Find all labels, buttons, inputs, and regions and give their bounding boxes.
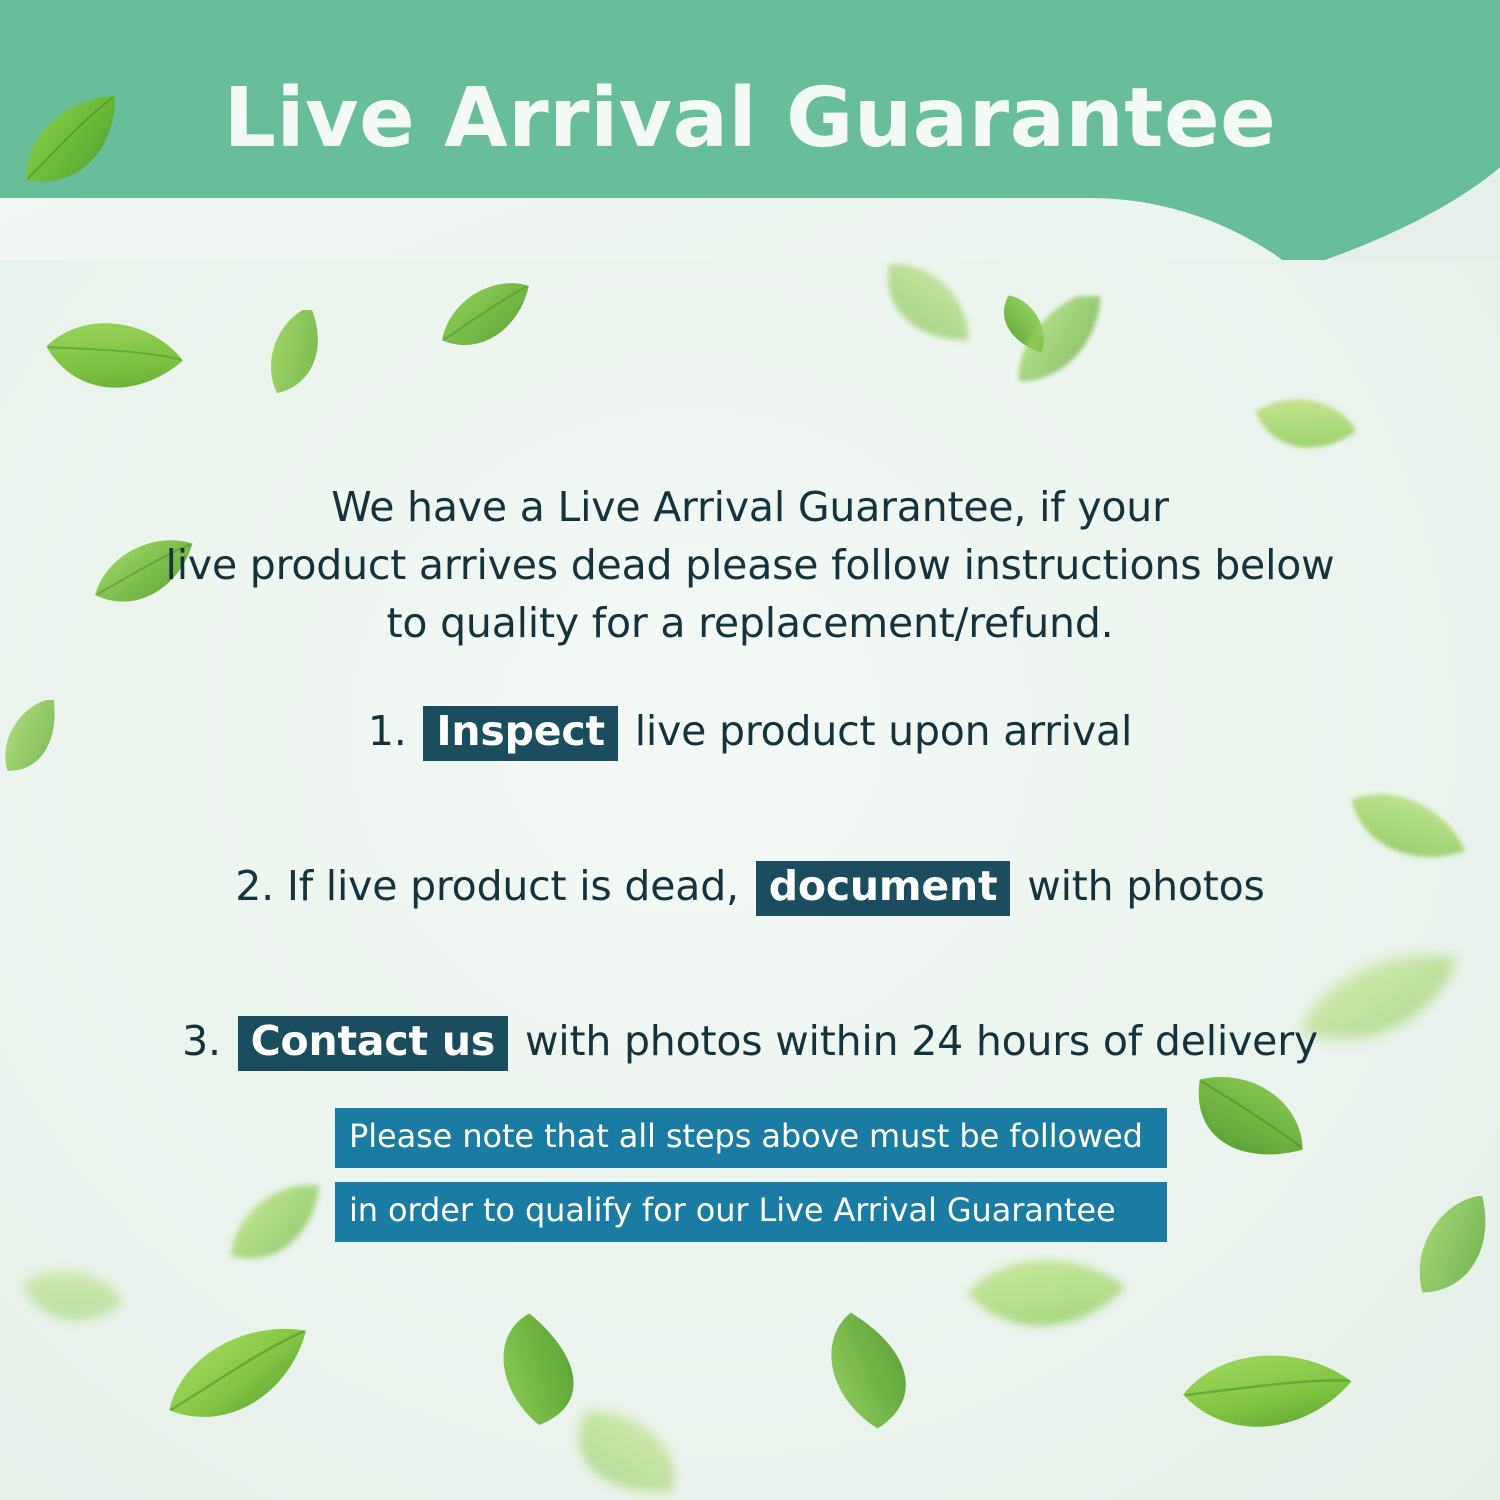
intro-line-3: to quality for a replacement/refund. — [150, 594, 1350, 652]
step-item-1: 1. Inspect live product upon arrival — [100, 706, 1400, 761]
step-number-3: 3. — [182, 1017, 221, 1065]
poster-content: Live Arrival Guarantee We have a Live Ar… — [0, 0, 1500, 1500]
live-arrival-guarantee-poster: Live Arrival Guarantee We have a Live Ar… — [0, 0, 1500, 1500]
step-item-2: 2. If live product is dead, document wit… — [100, 861, 1400, 916]
step-number-1: 1. — [368, 707, 407, 755]
step-text-2-after: with photos — [1027, 862, 1264, 910]
step-highlight-document[interactable]: document — [756, 861, 1011, 916]
step-highlight-inspect[interactable]: Inspect — [423, 706, 618, 761]
step-highlight-contact-us[interactable]: Contact us — [238, 1016, 508, 1071]
intro-line-2: live product arrives dead please follow … — [150, 536, 1350, 594]
step-text-3: with photos within 24 hours of delivery — [525, 1017, 1318, 1065]
page-title: Live Arrival Guarantee — [0, 78, 1500, 160]
note-line-1: Please note that all steps above must be… — [335, 1108, 1167, 1168]
intro-line-1: We have a Live Arrival Guarantee, if you… — [150, 478, 1350, 536]
intro-paragraph: We have a Live Arrival Guarantee, if you… — [150, 478, 1350, 653]
step-text-1: live product upon arrival — [635, 707, 1132, 755]
step-text-2-before: If live product is dead, — [287, 862, 739, 910]
step-item-3: 3. Contact us with photos within 24 hour… — [100, 1016, 1400, 1071]
note-line-2: in order to qualify for our Live Arrival… — [335, 1182, 1167, 1242]
step-number-2: 2. — [235, 862, 274, 910]
note-banner: Please note that all steps above must be… — [335, 1108, 1167, 1242]
steps-list: 1. Inspect live product upon arrival 2. … — [100, 706, 1400, 1071]
